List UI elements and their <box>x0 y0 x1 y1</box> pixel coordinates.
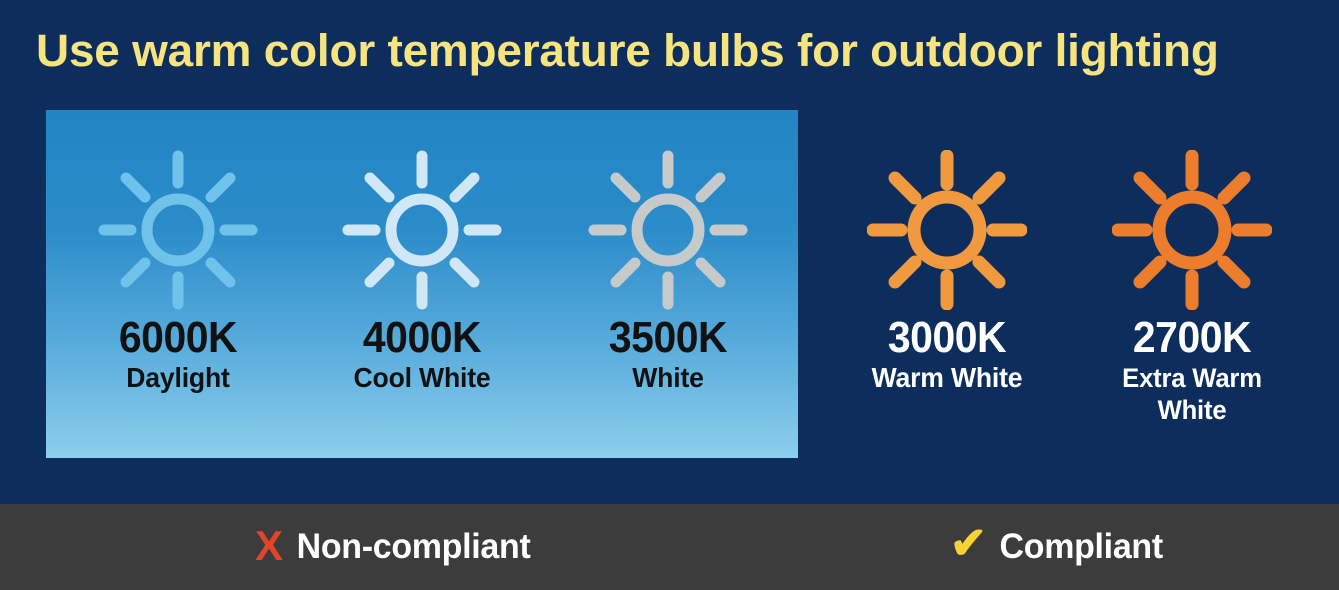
page-title: Use warm color temperature bulbs for out… <box>36 20 1339 82</box>
legend-non-compliant-label: Non-compliant <box>297 527 531 567</box>
check-icon: ✔ <box>950 522 987 566</box>
bulb-card-6000k: 6000K Daylight <box>68 150 288 394</box>
sun-icon <box>342 150 502 310</box>
bulb-card-3000k: 3000K Warm White <box>837 150 1057 394</box>
bulb-name-label: Daylight <box>74 362 283 394</box>
bulb-kelvin-label: 3000K <box>845 314 1050 362</box>
bulb-card-3500k: 3500K White <box>558 150 778 394</box>
legend-footer: X Non-compliant ✔ Compliant <box>0 504 1339 590</box>
bulb-name-label: Extra Warm White <box>1088 362 1297 426</box>
bulb-kelvin-label: 4000K <box>320 314 525 362</box>
bulb-name-label: White <box>564 362 773 394</box>
sun-icon <box>867 150 1027 310</box>
legend-compliant-label: Compliant <box>999 527 1162 567</box>
legend-compliant: ✔ Compliant <box>950 504 1165 590</box>
sun-icon <box>588 150 748 310</box>
bulb-card-4000k: 4000K Cool White <box>312 150 532 394</box>
bulb-kelvin-label: 2700K <box>1090 314 1295 362</box>
sun-icon <box>98 150 258 310</box>
x-icon: X <box>255 525 283 567</box>
infographic-root: Use warm color temperature bulbs for out… <box>0 0 1339 590</box>
bulb-kelvin-label: 6000K <box>76 314 281 362</box>
sun-icon <box>1112 150 1272 310</box>
legend-non-compliant: X Non-compliant <box>255 504 534 590</box>
bulb-card-2700k: 2700K Extra Warm White <box>1082 150 1302 426</box>
bulb-kelvin-label: 3500K <box>566 314 771 362</box>
bulb-name-label: Cool White <box>318 362 527 394</box>
bulb-name-label: Warm White <box>843 362 1052 394</box>
